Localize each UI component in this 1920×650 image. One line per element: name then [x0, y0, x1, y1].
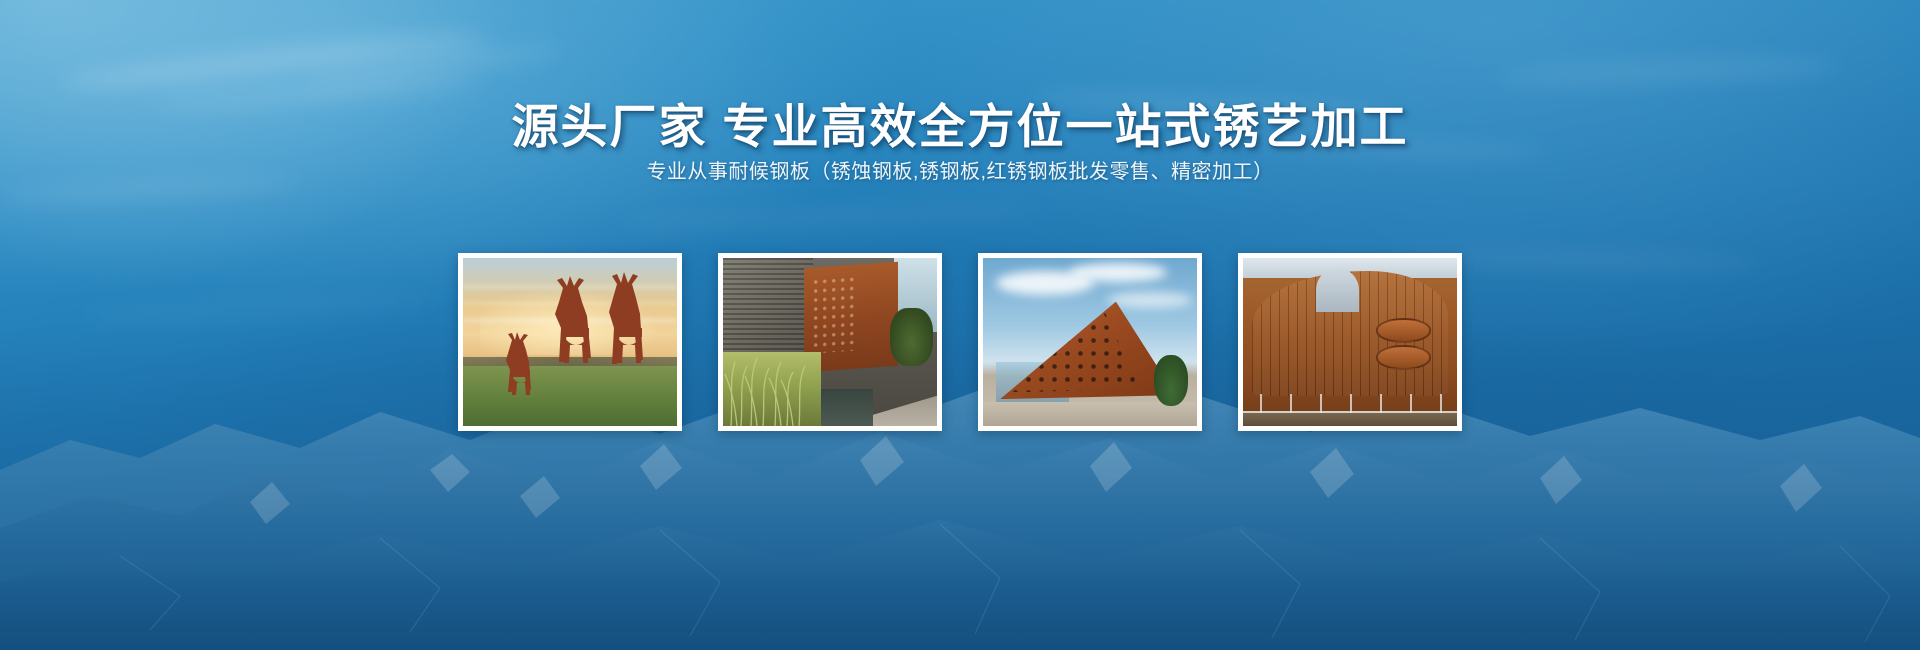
grass-blades: [723, 258, 937, 426]
banner-subtitle: 专业从事耐候钢板（锈蚀钢板,锈钢板,红锈钢板批发零售、精密加工）: [0, 155, 1920, 184]
deer-sculpture-shapes: [463, 258, 677, 426]
thumbnail-gallery: [0, 253, 1920, 433]
banner-headline: 源头厂家 专业高效全方位一站式锈艺加工: [0, 88, 1920, 157]
thumbnail-corten-curved-building[interactable]: [1238, 253, 1462, 431]
image-corten-deer-sculptures: [463, 258, 677, 426]
image-corten-triangular-pavilion: [983, 258, 1197, 426]
thumbnail-corten-triangular-pavilion[interactable]: [978, 253, 1202, 431]
thumbnail-corten-deer-sculptures[interactable]: [458, 253, 682, 431]
image-corten-curved-building: [1243, 258, 1457, 426]
image-corten-facade-garden: [723, 258, 937, 426]
thumbnail-corten-facade-garden[interactable]: [718, 253, 942, 431]
hero-banner: 源头厂家 专业高效全方位一站式锈艺加工 专业从事耐候钢板（锈蚀钢板,锈钢板,红锈…: [0, 0, 1920, 650]
